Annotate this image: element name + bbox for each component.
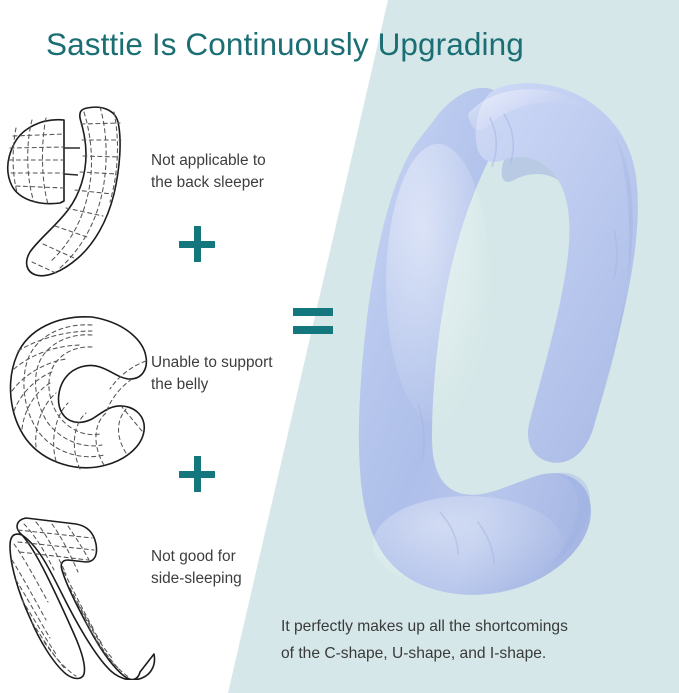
drawback-line-2: the belly: [151, 374, 301, 396]
j-shape-pillow-illustration: [2, 98, 152, 293]
caption-line-2: of the C-shape, U-shape, and I-shape.: [281, 640, 661, 667]
plus-icon: [179, 456, 215, 492]
product-photo-j-shape-pillow: [318, 74, 679, 619]
result-caption: It perfectly makes up all the shortcomin…: [281, 613, 661, 667]
drawback-line-1: Unable to support: [151, 352, 301, 374]
product-infographic: Sasttie Is Continuously Upgrading: [0, 0, 679, 693]
drawback-label-j-shape: Not applicable to the back sleeper: [151, 150, 301, 193]
drawback-line-1: Not applicable to: [151, 150, 301, 172]
plus-icon: [179, 226, 215, 262]
drawback-line-2: side-sleeping: [151, 568, 301, 590]
drawback-line-1: Not good for: [151, 546, 301, 568]
c-shape-pillow-illustration: [6, 303, 154, 475]
u-shape-pillow-illustration: [4, 500, 160, 680]
drawback-label-u-shape: Not good for side-sleeping: [151, 546, 301, 589]
drawback-line-2: the back sleeper: [151, 172, 301, 194]
page-title: Sasttie Is Continuously Upgrading: [46, 26, 524, 63]
drawback-label-c-shape: Unable to support the belly: [151, 352, 301, 395]
caption-line-1: It perfectly makes up all the shortcomin…: [281, 613, 661, 640]
